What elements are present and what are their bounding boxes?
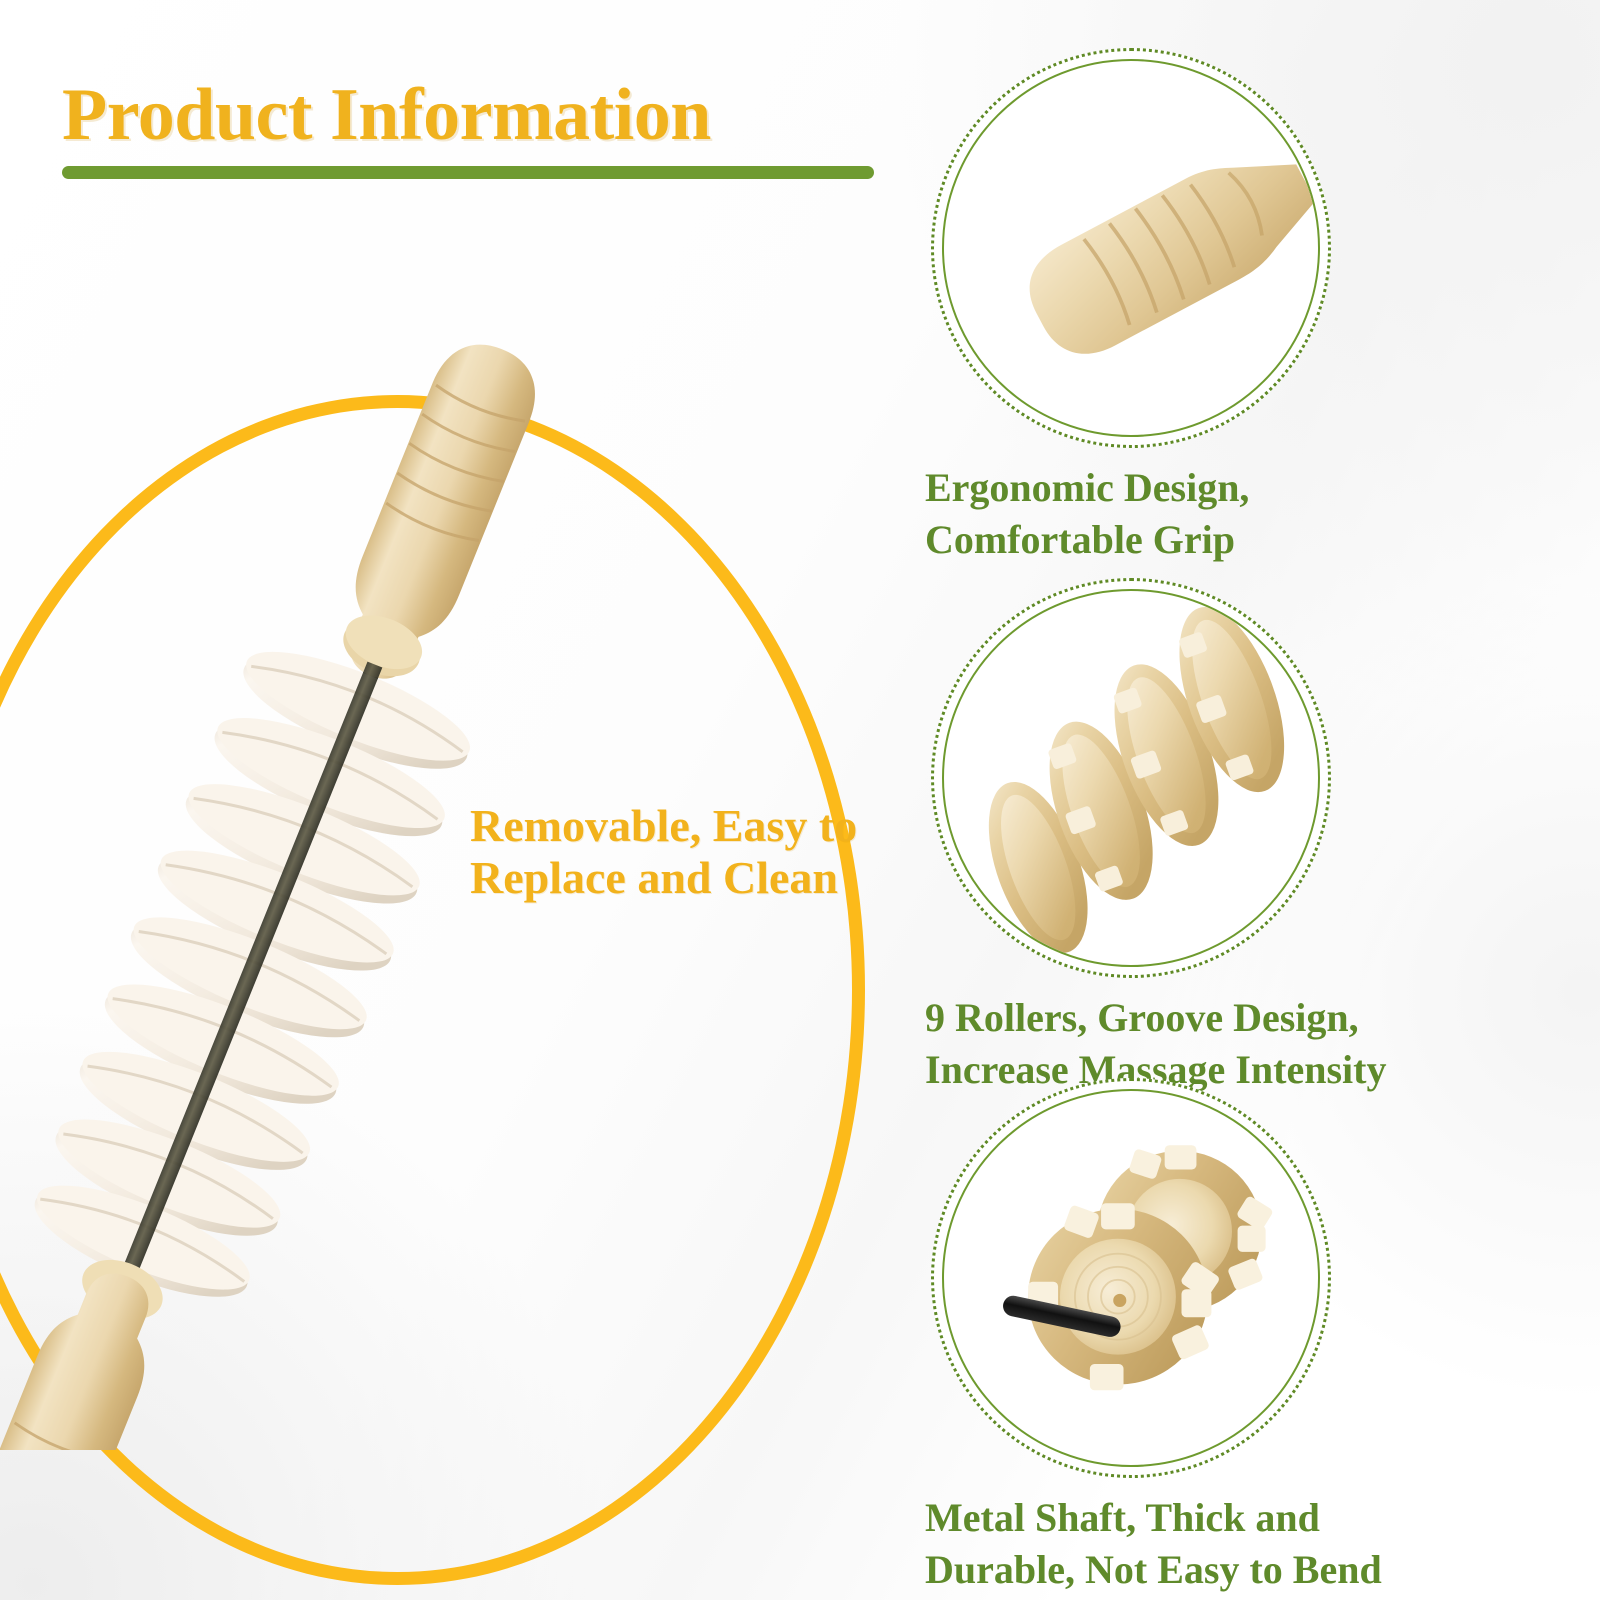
feature-caption-line-1: Ergonomic Design, <box>925 462 1545 514</box>
feature-caption-line-1: 9 Rollers, Groove Design, <box>925 992 1545 1044</box>
circle-dotted-ring <box>931 48 1331 448</box>
page-header: Product Information <box>62 78 902 179</box>
page-title: Product Information <box>62 78 902 152</box>
title-underline-rule <box>62 166 874 179</box>
hero-caption: Removable, Easy to Replace and Clean <box>470 800 870 905</box>
hero-caption-line-1: Removable, <box>470 800 701 851</box>
feature-image-circle <box>931 578 1331 978</box>
circle-dotted-ring <box>931 578 1331 978</box>
feature-image-circle <box>931 48 1331 448</box>
feature-caption-line-2: Comfortable Grip <box>925 514 1545 566</box>
top-handle-art <box>322 330 550 695</box>
feature-caption-line-1: Metal Shaft, Thick and <box>925 1492 1545 1544</box>
feature-image-circle <box>931 1078 1331 1478</box>
feature-ergonomic-grip: Ergonomic Design, Comfortable Grip <box>925 48 1545 566</box>
feature-metal-shaft: Metal Shaft, Thick and Durable, Not Easy… <box>925 1078 1545 1596</box>
circle-dotted-ring <box>931 1078 1331 1478</box>
feature-caption: Ergonomic Design, Comfortable Grip <box>925 462 1545 566</box>
hero-caption-line-3: and Clean <box>637 852 838 903</box>
infographic-canvas: Product Information <box>0 0 1600 1600</box>
feature-nine-rollers: 9 Rollers, Groove Design, Increase Massa… <box>925 578 1545 1096</box>
feature-caption-line-2: Durable, Not Easy to Bend <box>925 1544 1545 1596</box>
feature-caption: Metal Shaft, Thick and Durable, Not Easy… <box>925 1492 1545 1596</box>
